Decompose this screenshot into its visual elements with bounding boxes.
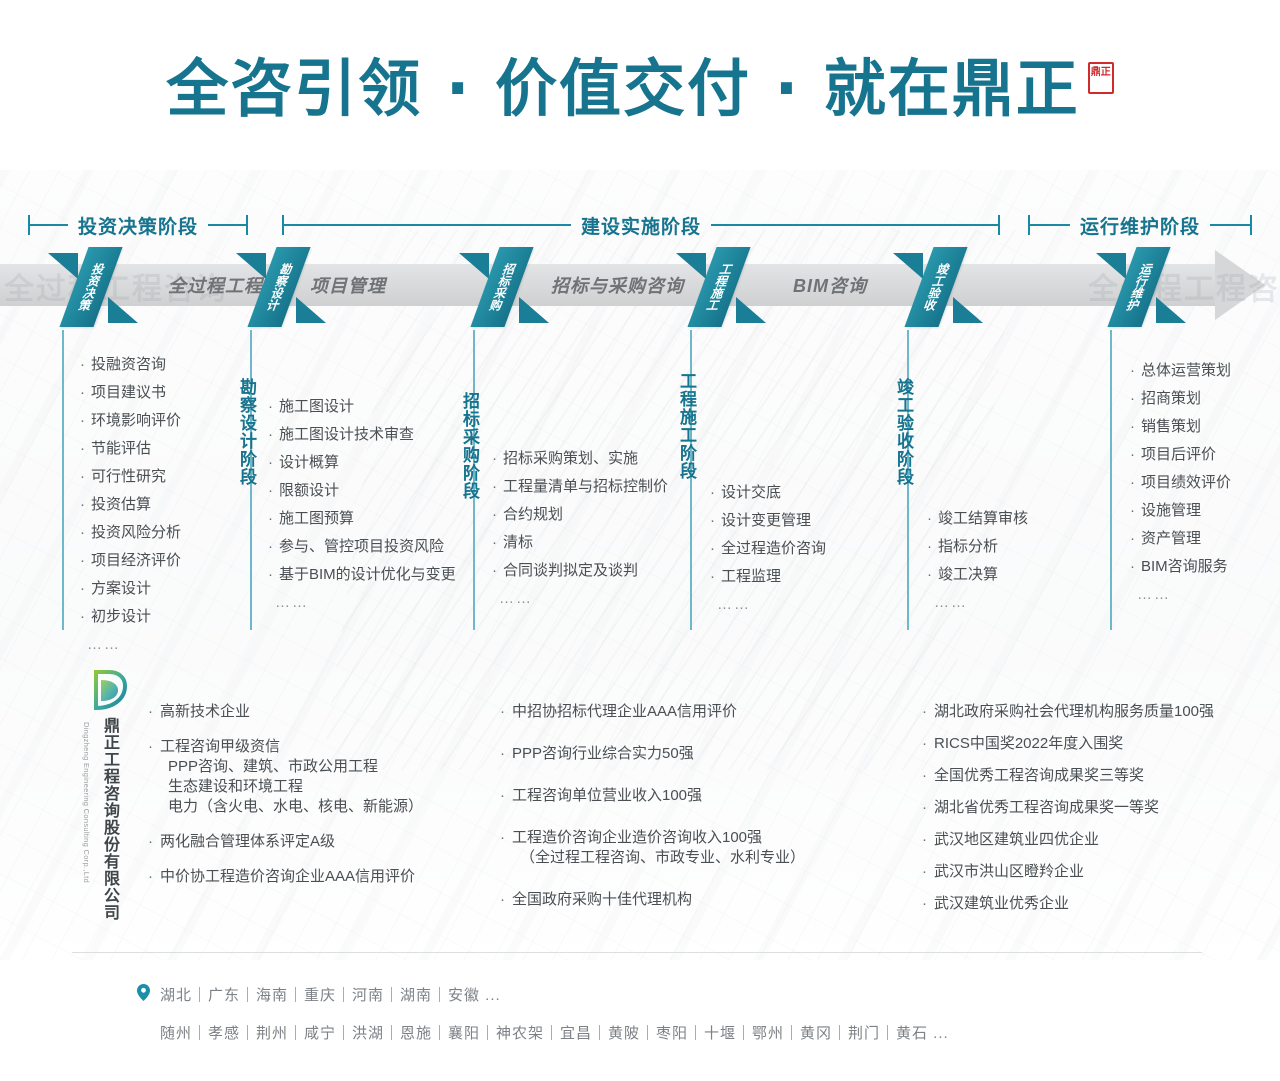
bullet-dot-icon: · bbox=[148, 703, 153, 720]
list-item-label: 合同谈判拟定及谈判 bbox=[503, 562, 638, 579]
list-item-label: 合约规划 bbox=[503, 506, 563, 523]
list-item-sub: PPP咨询、建筑、市政公用工程 bbox=[148, 757, 423, 777]
list-item-label: 设施管理 bbox=[1141, 502, 1201, 519]
list-item: ·销售策划 bbox=[1130, 418, 1231, 435]
bullet-dot-icon: · bbox=[148, 833, 153, 850]
bullet-dot-icon: · bbox=[492, 450, 497, 467]
list-item: ·湖北政府采购社会代理机构服务质量100强 bbox=[922, 702, 1214, 722]
bullet-dot-icon: · bbox=[148, 868, 153, 885]
stage-list-4: ·设计交底 ·设计变更管理 ·全过程造价咨询 ·工程监理 bbox=[710, 484, 826, 585]
list-item-sub: 生态建设和环境工程 bbox=[148, 777, 423, 797]
list-item: ·设施管理 bbox=[1130, 502, 1231, 519]
list-item-sub: （全过程工程咨询、市政专业、水利专业） bbox=[500, 848, 805, 868]
list-item-label: 全过程造价咨询 bbox=[721, 540, 826, 557]
stage-column-2: ·施工图设计 ·施工图设计技术审查 ·设计概算 ·限额设计 ·施工图预算 ·参与… bbox=[268, 398, 456, 611]
ribbon-tail-bottom bbox=[953, 297, 983, 323]
list-item-label: 参与、管控项目投资风险 bbox=[279, 538, 444, 555]
list-item: ·招标采购策划、实施 bbox=[492, 450, 668, 467]
bullet-dot-icon: · bbox=[268, 566, 273, 583]
stage-list-6: ·总体运营策划 ·招商策划 ·销售策划 ·项目后评价 ·项目绩效评价 ·设施管理… bbox=[1130, 362, 1231, 575]
process-band-arrowhead bbox=[1215, 250, 1265, 320]
location-pin-icon bbox=[137, 984, 150, 1001]
list-item: ·工程监理 bbox=[710, 568, 826, 585]
credentials-list-2: ·中招协招标代理企业AAA信用评价 ·PPP咨询行业综合实力50强 ·工程咨询单… bbox=[500, 702, 805, 910]
phase-header-3: 运行维护阶段 bbox=[1028, 208, 1252, 242]
phase-header-2: 建设实施阶段 bbox=[282, 208, 1000, 242]
bullet-dot-icon: · bbox=[1130, 418, 1135, 435]
list-item: ·投融资咨询 bbox=[80, 356, 181, 373]
list-item: ·PPP咨询行业综合实力50强 bbox=[500, 744, 805, 764]
list-item-label: RICS中国奖2022年度入围奖 bbox=[934, 735, 1123, 752]
ribbon-tail-top bbox=[676, 253, 706, 279]
list-item-label: 中价协工程造价咨询企业AAA信用评价 bbox=[160, 868, 415, 885]
band-label-3: 招标与采购咨询 bbox=[551, 272, 684, 298]
list-item: ·工程咨询单位营业收入100强 bbox=[500, 786, 805, 806]
list-item: ·武汉地区建筑业四优企业 bbox=[922, 830, 1214, 850]
bullet-dot-icon: · bbox=[710, 512, 715, 529]
bracket-rule-right bbox=[1210, 224, 1250, 226]
list-item-label: 项目绩效评价 bbox=[1141, 474, 1231, 491]
ribbon-tail-bottom bbox=[519, 297, 549, 323]
stage-column-4: ·设计交底 ·设计变更管理 ·全过程造价咨询 ·工程监理 …… bbox=[710, 484, 826, 613]
bullet-dot-icon: · bbox=[80, 608, 85, 625]
bullet-dot-icon: · bbox=[80, 440, 85, 457]
bullet-dot-icon: · bbox=[1130, 390, 1135, 407]
list-item: ·可行性研究 bbox=[80, 468, 181, 485]
bullet-dot-icon: · bbox=[710, 484, 715, 501]
list-item: ·施工图设计技术审查 bbox=[268, 426, 456, 443]
list-item: ·中招协招标代理企业AAA信用评价 bbox=[500, 702, 805, 722]
list-item-label: 方案设计 bbox=[91, 580, 151, 597]
stage-label-3: 招标采购阶段 bbox=[459, 392, 478, 500]
company-name-en: Dingzheng Engineering Consulting Corp.,L… bbox=[82, 722, 91, 883]
column-divider-1 bbox=[62, 330, 64, 630]
bullet-dot-icon: · bbox=[80, 384, 85, 401]
footer-provinces: 湖北｜广东｜海南｜重庆｜河南｜湖南｜安徽 ... bbox=[160, 984, 501, 1005]
footer-cities: 随州｜孝感｜荆州｜咸宁｜洪湖｜恩施｜襄阳｜神农架｜宜昌｜黄陂｜枣阳｜十堰｜鄂州｜… bbox=[160, 1022, 949, 1043]
ribbon-marker-3[interactable]: 招标采购 bbox=[485, 247, 547, 327]
list-item-label: 全国政府采购十佳代理机构 bbox=[512, 891, 692, 908]
bullet-dot-icon: · bbox=[922, 767, 927, 784]
list-item: ·招商策划 bbox=[1130, 390, 1231, 407]
list-item-label: 竣工决算 bbox=[938, 566, 998, 583]
credentials-column-3: ·湖北政府采购社会代理机构服务质量100强 ·RICS中国奖2022年度入围奖 … bbox=[922, 702, 1214, 929]
bullet-dot-icon: · bbox=[80, 468, 85, 485]
list-item-label: 工程咨询甲级资信 bbox=[160, 738, 280, 755]
stage-ellipsis-1: …… bbox=[80, 636, 181, 653]
list-item: ·两化融合管理体系评定A级 bbox=[148, 832, 423, 852]
list-item: ·工程咨询甲级资信 PPP咨询、建筑、市政公用工程 生态建设和环境工程 电力（含… bbox=[148, 737, 423, 817]
phase-label-1: 投资决策阶段 bbox=[68, 212, 208, 239]
list-item-label: 竣工结算审核 bbox=[938, 510, 1028, 527]
list-item-label: 高新技术企业 bbox=[160, 703, 250, 720]
stage-ellipsis-6: …… bbox=[1130, 586, 1231, 603]
credentials-list-1: ·高新技术企业 ·工程咨询甲级资信 PPP咨询、建筑、市政公用工程 生态建设和环… bbox=[148, 702, 423, 887]
stage-list-5: ·竣工结算审核 ·指标分析 ·竣工决算 bbox=[927, 510, 1028, 583]
bullet-dot-icon: · bbox=[492, 534, 497, 551]
list-item: ·环境影响评价 bbox=[80, 412, 181, 429]
list-item-label: 项目后评价 bbox=[1141, 446, 1216, 463]
stage-column-1: ·投融资咨询 ·项目建议书 ·环境影响评价 ·节能评估 ·可行性研究 ·投资估算… bbox=[80, 356, 181, 653]
bullet-dot-icon: · bbox=[500, 745, 505, 762]
list-item-label: 清标 bbox=[503, 534, 533, 551]
list-item-label: PPP咨询行业综合实力50强 bbox=[512, 745, 694, 762]
credentials-column-1: ·高新技术企业 ·工程咨询甲级资信 PPP咨询、建筑、市政公用工程 生态建设和环… bbox=[148, 702, 423, 902]
ribbon-tail-top bbox=[236, 253, 266, 279]
bullet-dot-icon: · bbox=[80, 412, 85, 429]
list-item: ·工程量清单与招标控制价 bbox=[492, 478, 668, 495]
list-item: ·合约规划 bbox=[492, 506, 668, 523]
list-item-label: 工程监理 bbox=[721, 568, 781, 585]
list-item: ·项目绩效评价 bbox=[1130, 474, 1231, 491]
bullet-dot-icon: · bbox=[492, 506, 497, 523]
bracket-cap-right bbox=[998, 215, 1000, 235]
bracket-rule-right bbox=[208, 224, 246, 226]
list-item-label: 两化融合管理体系评定A级 bbox=[160, 833, 335, 850]
ribbon-tail-top bbox=[1096, 253, 1126, 279]
stage-ellipsis-3: …… bbox=[492, 590, 668, 607]
list-item-label: 指标分析 bbox=[938, 538, 998, 555]
bullet-dot-icon: · bbox=[922, 735, 927, 752]
ribbon-marker-6[interactable]: 运行维护 bbox=[1122, 247, 1184, 327]
list-item: ·项目经济评价 bbox=[80, 552, 181, 569]
company-logo-block: 鼎正工程咨询股份有限公司 Dingzheng Engineering Consu… bbox=[86, 668, 132, 926]
stage-ellipsis-4: …… bbox=[710, 596, 826, 613]
bullet-dot-icon: · bbox=[268, 510, 273, 527]
bullet-dot-icon: · bbox=[922, 863, 927, 880]
list-item: ·武汉建筑业优秀企业 bbox=[922, 894, 1214, 914]
dingzheng-logo-icon bbox=[87, 668, 131, 712]
bracket-rule-left bbox=[30, 224, 68, 226]
list-item: ·BIM咨询服务 bbox=[1130, 558, 1231, 575]
bullet-dot-icon: · bbox=[80, 580, 85, 597]
bracket-rule-right bbox=[711, 224, 998, 226]
list-item: ·湖北省优秀工程咨询成果奖一等奖 bbox=[922, 798, 1214, 818]
list-item-label: 湖北省优秀工程咨询成果奖一等奖 bbox=[934, 799, 1159, 816]
ribbon-tail-top bbox=[48, 253, 78, 279]
ribbon-marker-5[interactable]: 竣工验收 bbox=[919, 247, 981, 327]
list-item: ·限额设计 bbox=[268, 482, 456, 499]
bullet-dot-icon: · bbox=[492, 562, 497, 579]
list-item: ·中价协工程造价咨询企业AAA信用评价 bbox=[148, 867, 423, 887]
bullet-dot-icon: · bbox=[922, 703, 927, 720]
list-item-label: 总体运营策划 bbox=[1141, 362, 1231, 379]
stage-label-4: 工程施工阶段 bbox=[676, 372, 695, 480]
list-item-label: 设计概算 bbox=[279, 454, 339, 471]
bullet-dot-icon: · bbox=[492, 478, 497, 495]
list-item: ·初步设计 bbox=[80, 608, 181, 625]
bullet-dot-icon: · bbox=[500, 829, 505, 846]
bullet-dot-icon: · bbox=[268, 426, 273, 443]
page-title: 全咨引领 · 价值交付 · 就在鼎正鼎正 bbox=[0, 58, 1280, 120]
phase-header-row: 投资决策阶段 建设实施阶段 运行维护阶段 bbox=[0, 208, 1280, 242]
ribbon-marker-4[interactable]: 工程施工 bbox=[702, 247, 764, 327]
list-item-label: 武汉建筑业优秀企业 bbox=[934, 895, 1069, 912]
ribbon-tail-bottom bbox=[108, 297, 138, 323]
bullet-dot-icon: · bbox=[80, 524, 85, 541]
stage-label-5: 竣工验收阶段 bbox=[893, 378, 912, 486]
stage-label-2: 勘察设计阶段 bbox=[236, 378, 255, 486]
list-item-label: 工程量清单与招标控制价 bbox=[503, 478, 668, 495]
bullet-dot-icon: · bbox=[500, 891, 505, 908]
list-item-label: 施工图预算 bbox=[279, 510, 354, 527]
company-seal-stamp: 鼎正 bbox=[1088, 62, 1114, 94]
credentials-column-2: ·中招协招标代理企业AAA信用评价 ·PPP咨询行业综合实力50强 ·工程咨询单… bbox=[500, 702, 805, 925]
list-item: ·方案设计 bbox=[80, 580, 181, 597]
stage-ellipsis-5: …… bbox=[927, 594, 1028, 611]
ribbon-tail-top bbox=[893, 253, 923, 279]
list-item: ·施工图设计 bbox=[268, 398, 456, 415]
bracket-cap-right bbox=[246, 215, 248, 235]
bullet-dot-icon: · bbox=[80, 496, 85, 513]
bullet-dot-icon: · bbox=[922, 799, 927, 816]
bullet-dot-icon: · bbox=[268, 538, 273, 555]
bullet-dot-icon: · bbox=[268, 482, 273, 499]
bullet-dot-icon: · bbox=[268, 398, 273, 415]
list-item: ·参与、管控项目投资风险 bbox=[268, 538, 456, 555]
ribbon-tail-bottom bbox=[736, 297, 766, 323]
ribbon-marker-2[interactable]: 勘察设计 bbox=[262, 247, 324, 327]
list-item-label: 招商策划 bbox=[1141, 390, 1201, 407]
column-divider-6 bbox=[1110, 330, 1112, 630]
bullet-dot-icon: · bbox=[927, 566, 932, 583]
bullet-dot-icon: · bbox=[500, 703, 505, 720]
bullet-dot-icon: · bbox=[80, 356, 85, 373]
list-item: ·高新技术企业 bbox=[148, 702, 423, 722]
bullet-dot-icon: · bbox=[1130, 474, 1135, 491]
ribbon-tail-bottom bbox=[1156, 297, 1186, 323]
bullet-dot-icon: · bbox=[1130, 558, 1135, 575]
list-item-label: 设计交底 bbox=[721, 484, 781, 501]
bracket-rule-left bbox=[284, 224, 571, 226]
list-item: ·竣工结算审核 bbox=[927, 510, 1028, 527]
list-item: ·投资估算 bbox=[80, 496, 181, 513]
company-name-cn: 鼎正工程咨询股份有限公司 bbox=[100, 717, 118, 921]
bullet-dot-icon: · bbox=[80, 552, 85, 569]
list-item-label: 全国优秀工程咨询成果奖三等奖 bbox=[934, 767, 1144, 784]
bullet-dot-icon: · bbox=[710, 540, 715, 557]
list-item: ·项目建议书 bbox=[80, 384, 181, 401]
bullet-dot-icon: · bbox=[927, 538, 932, 555]
list-item-label: 中招协招标代理企业AAA信用评价 bbox=[512, 703, 737, 720]
list-item-label: 武汉市洪山区瞪羚企业 bbox=[934, 863, 1084, 880]
list-item: ·竣工决算 bbox=[927, 566, 1028, 583]
list-item: ·节能评估 bbox=[80, 440, 181, 457]
list-item: ·全过程造价咨询 bbox=[710, 540, 826, 557]
list-item: ·指标分析 bbox=[927, 538, 1028, 555]
list-item-sub: 电力（含火电、水电、核电、新能源） bbox=[148, 797, 423, 817]
main-title-text: 全咨引领 · 价值交付 · 就在鼎正 bbox=[166, 58, 1079, 120]
list-item-label: 湖北政府采购社会代理机构服务质量100强 bbox=[934, 703, 1214, 720]
list-item-label: 投资风险分析 bbox=[91, 524, 181, 541]
list-item: ·清标 bbox=[492, 534, 668, 551]
bullet-dot-icon: · bbox=[1130, 530, 1135, 547]
stage-column-3: ·招标采购策划、实施 ·工程量清单与招标控制价 ·合约规划 ·清标 ·合同谈判拟… bbox=[492, 450, 668, 607]
phase-header-1: 投资决策阶段 bbox=[28, 208, 248, 242]
list-item: ·项目后评价 bbox=[1130, 446, 1231, 463]
list-item-label: 基于BIM的设计优化与变更 bbox=[279, 566, 456, 583]
list-item-label: 工程咨询单位营业收入100强 bbox=[512, 787, 702, 804]
stage-list-2: ·施工图设计 ·施工图设计技术审查 ·设计概算 ·限额设计 ·施工图预算 ·参与… bbox=[268, 398, 456, 583]
ribbon-tail-top bbox=[459, 253, 489, 279]
list-item-label: 销售策划 bbox=[1141, 418, 1201, 435]
list-item: ·设计交底 bbox=[710, 484, 826, 501]
list-item-label: 项目建议书 bbox=[91, 384, 166, 401]
ribbon-tail-bottom bbox=[296, 297, 326, 323]
bullet-dot-icon: · bbox=[148, 738, 153, 755]
bullet-dot-icon: · bbox=[922, 895, 927, 912]
stage-column-5: ·竣工结算审核 ·指标分析 ·竣工决算 …… bbox=[927, 510, 1028, 611]
list-item-label: 限额设计 bbox=[279, 482, 339, 499]
list-item: ·全国政府采购十佳代理机构 bbox=[500, 890, 805, 910]
list-item-label: 招标采购策划、实施 bbox=[503, 450, 638, 467]
bullet-dot-icon: · bbox=[927, 510, 932, 527]
stage-list-3: ·招标采购策划、实施 ·工程量清单与招标控制价 ·合约规划 ·清标 ·合同谈判拟… bbox=[492, 450, 668, 579]
list-item: ·合同谈判拟定及谈判 bbox=[492, 562, 668, 579]
bullet-dot-icon: · bbox=[710, 568, 715, 585]
list-item-label: 节能评估 bbox=[91, 440, 151, 457]
list-item: ·施工图预算 bbox=[268, 510, 456, 527]
list-item: ·RICS中国奖2022年度入围奖 bbox=[922, 734, 1214, 754]
list-item-label: 施工图设计技术审查 bbox=[279, 426, 414, 443]
list-item-label: 项目经济评价 bbox=[91, 552, 181, 569]
bullet-dot-icon: · bbox=[500, 787, 505, 804]
list-item: ·资产管理 bbox=[1130, 530, 1231, 547]
phase-label-2: 建设实施阶段 bbox=[571, 212, 711, 239]
stage-column-6: ·总体运营策划 ·招商策划 ·销售策划 ·项目后评价 ·项目绩效评价 ·设施管理… bbox=[1130, 362, 1231, 603]
band-label-4: BIM咨询 bbox=[793, 272, 867, 298]
list-item: ·全国优秀工程咨询成果奖三等奖 bbox=[922, 766, 1214, 786]
stage-list-1: ·投融资咨询 ·项目建议书 ·环境影响评价 ·节能评估 ·可行性研究 ·投资估算… bbox=[80, 356, 181, 625]
list-item-label: 可行性研究 bbox=[91, 468, 166, 485]
credentials-list-3: ·湖北政府采购社会代理机构服务质量100强 ·RICS中国奖2022年度入围奖 … bbox=[922, 702, 1214, 914]
bullet-dot-icon: · bbox=[268, 454, 273, 471]
list-item-label: 投资估算 bbox=[91, 496, 151, 513]
phase-label-3: 运行维护阶段 bbox=[1070, 212, 1210, 239]
list-item-label: 设计变更管理 bbox=[721, 512, 811, 529]
list-item-label: 资产管理 bbox=[1141, 530, 1201, 547]
bullet-dot-icon: · bbox=[1130, 362, 1135, 379]
list-item: ·设计变更管理 bbox=[710, 512, 826, 529]
list-item-label: 初步设计 bbox=[91, 608, 151, 625]
bracket-rule-left bbox=[1030, 224, 1070, 226]
list-item: ·基于BIM的设计优化与变更 bbox=[268, 566, 456, 583]
footer-divider bbox=[72, 952, 1202, 953]
bracket-cap-right bbox=[1250, 215, 1252, 235]
ribbon-marker-1[interactable]: 投资决策 bbox=[74, 247, 136, 327]
list-item-label: BIM咨询服务 bbox=[1141, 558, 1228, 575]
list-item-label: 环境影响评价 bbox=[91, 412, 181, 429]
list-item-label: 武汉地区建筑业四优企业 bbox=[934, 831, 1099, 848]
stage-ellipsis-2: …… bbox=[268, 594, 456, 611]
list-item: ·总体运营策划 bbox=[1130, 362, 1231, 379]
bullet-dot-icon: · bbox=[1130, 446, 1135, 463]
list-item: ·工程造价咨询企业造价咨询收入100强 （全过程工程咨询、市政专业、水利专业） bbox=[500, 828, 805, 868]
list-item-label: 工程造价咨询企业造价咨询收入100强 bbox=[512, 829, 762, 846]
list-item: ·武汉市洪山区瞪羚企业 bbox=[922, 862, 1214, 882]
list-item: ·投资风险分析 bbox=[80, 524, 181, 541]
list-item-label: 施工图设计 bbox=[279, 398, 354, 415]
bullet-dot-icon: · bbox=[1130, 502, 1135, 519]
list-item: ·设计概算 bbox=[268, 454, 456, 471]
list-item-label: 投融资咨询 bbox=[91, 356, 166, 373]
bullet-dot-icon: · bbox=[922, 831, 927, 848]
